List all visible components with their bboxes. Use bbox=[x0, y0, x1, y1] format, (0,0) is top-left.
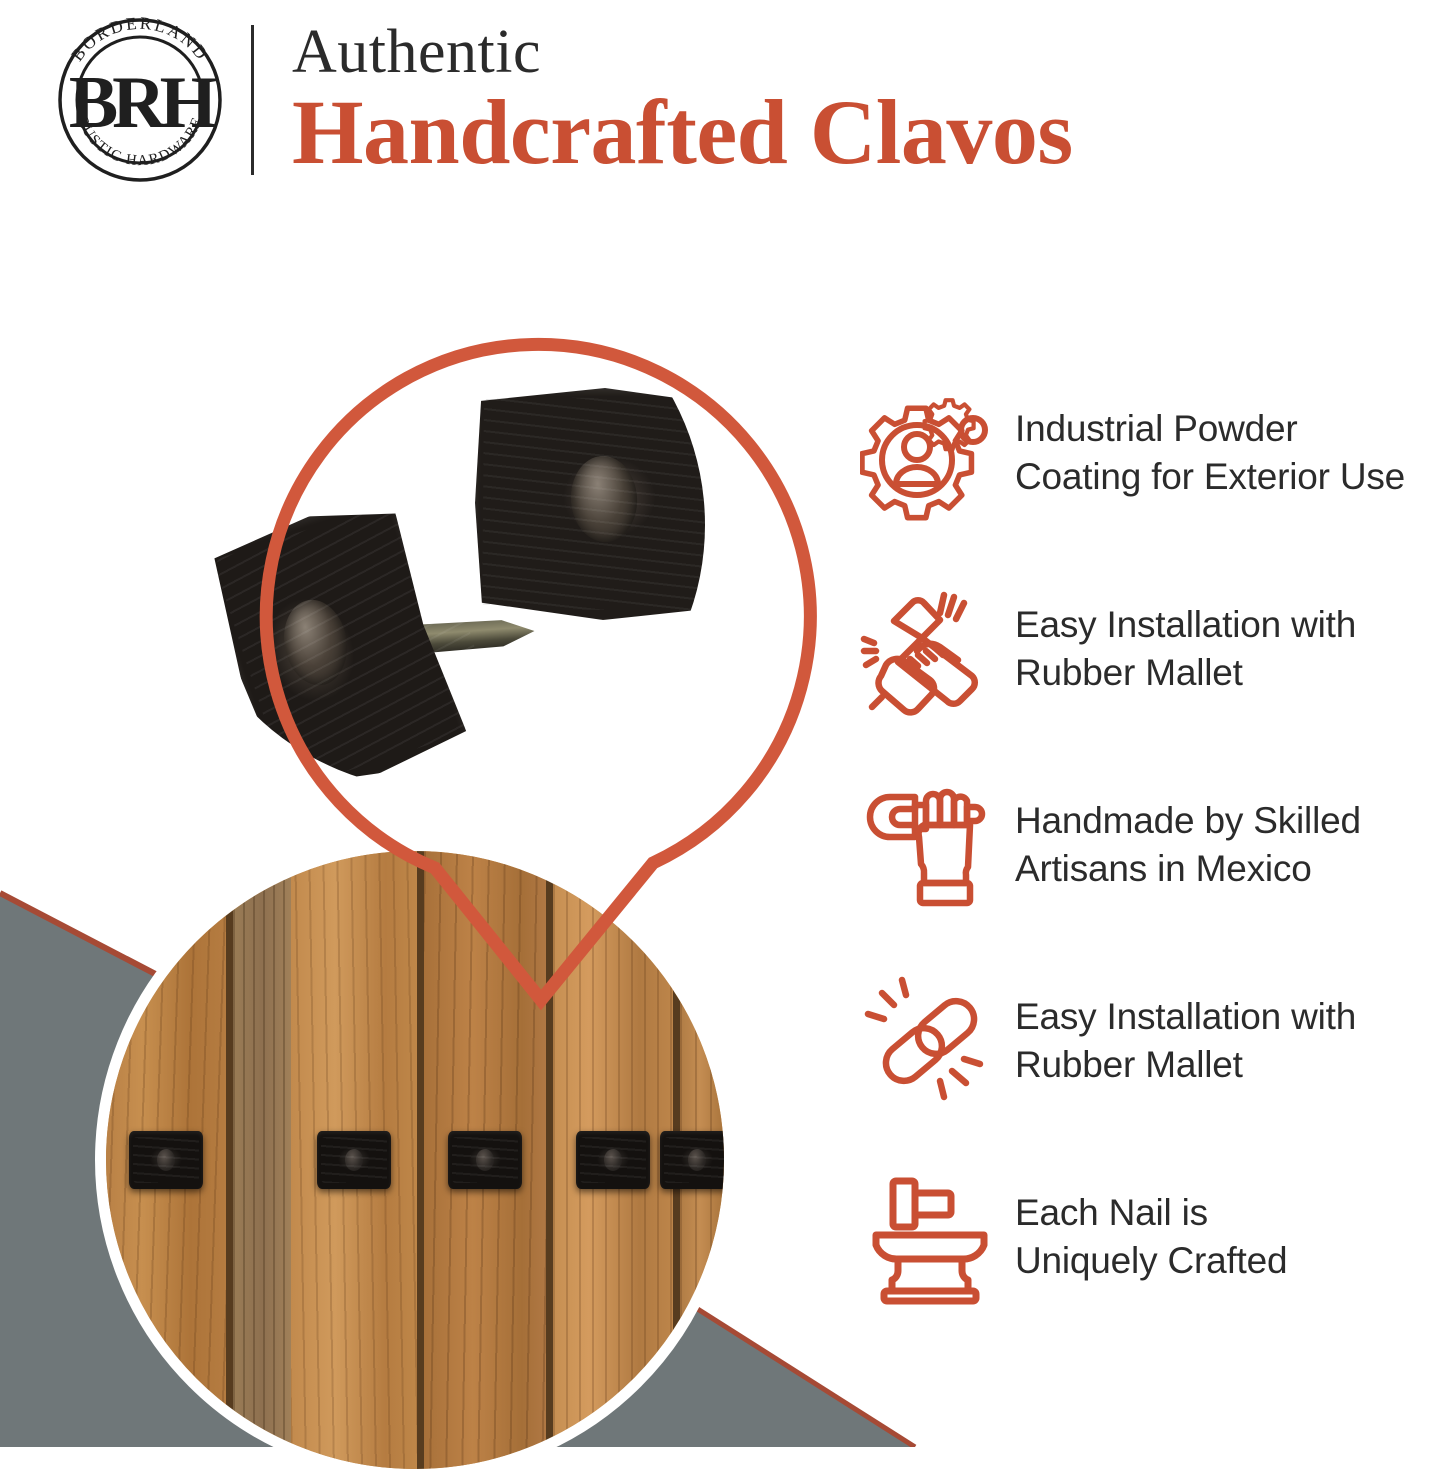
feature-line: Each Nail is bbox=[1015, 1189, 1445, 1237]
installed-clavo bbox=[660, 1131, 734, 1189]
feature-item: Easy Installation with Rubber Mallet bbox=[845, 551, 1445, 747]
product-visual-column bbox=[0, 200, 820, 1447]
chain-link-icon bbox=[845, 971, 1015, 1111]
logo-monogram: BRH bbox=[69, 62, 217, 144]
hand-mallet-icon bbox=[845, 579, 1015, 719]
installed-clavo bbox=[129, 1131, 203, 1189]
feature-label: Easy Installation with Rubber Mallet bbox=[1015, 601, 1445, 697]
feature-list: Industrial Powder Coating for Exterior U… bbox=[845, 355, 1445, 1335]
feature-item: Industrial Powder Coating for Exterior U… bbox=[845, 355, 1445, 551]
brand-logo: BORDERLAND RUSTIC HARDWARE BRH bbox=[55, 15, 225, 185]
title-line-authentic: Authentic bbox=[292, 22, 1445, 83]
fist-wrench-icon bbox=[845, 775, 1015, 915]
header: BORDERLAND RUSTIC HARDWARE BRH Authentic… bbox=[0, 0, 1445, 200]
feature-label: Each Nail is Uniquely Crafted bbox=[1015, 1189, 1445, 1285]
feature-line: Handmade by Skilled bbox=[1015, 797, 1445, 845]
page-title: Authentic Handcrafted Clavos bbox=[292, 20, 1445, 181]
feature-label: Industrial Powder Coating for Exterior U… bbox=[1015, 405, 1445, 501]
installed-clavo bbox=[448, 1131, 522, 1189]
header-divider bbox=[251, 25, 254, 175]
feature-item: Easy Installation with Rubber Mallet bbox=[845, 943, 1445, 1139]
callout-pin-outline bbox=[100, 220, 820, 1040]
feature-line: Artisans in Mexico bbox=[1015, 845, 1445, 893]
feature-item: Each Nail is Uniquely Crafted bbox=[845, 1139, 1445, 1335]
title-line-handcrafted-clavos: Handcrafted Clavos bbox=[292, 86, 1445, 180]
feature-line: Coating for Exterior Use bbox=[1015, 453, 1445, 501]
feature-line: Rubber Mallet bbox=[1015, 1041, 1445, 1089]
feature-line: Industrial Powder bbox=[1015, 405, 1445, 453]
feature-line: Rubber Mallet bbox=[1015, 649, 1445, 697]
feature-label: Handmade by Skilled Artisans in Mexico bbox=[1015, 797, 1445, 893]
feature-label: Easy Installation with Rubber Mallet bbox=[1015, 993, 1445, 1089]
feature-item: Handmade by Skilled Artisans in Mexico bbox=[845, 747, 1445, 943]
installed-clavo bbox=[576, 1131, 650, 1189]
logo-top-arc-text: BORDERLAND bbox=[67, 15, 213, 65]
feature-line: Easy Installation with bbox=[1015, 993, 1445, 1041]
anvil-hammer-icon bbox=[845, 1167, 1015, 1307]
installed-clavo bbox=[317, 1131, 391, 1189]
gear-person-icon bbox=[845, 383, 1015, 523]
feature-line: Uniquely Crafted bbox=[1015, 1237, 1445, 1285]
feature-line: Easy Installation with bbox=[1015, 601, 1445, 649]
